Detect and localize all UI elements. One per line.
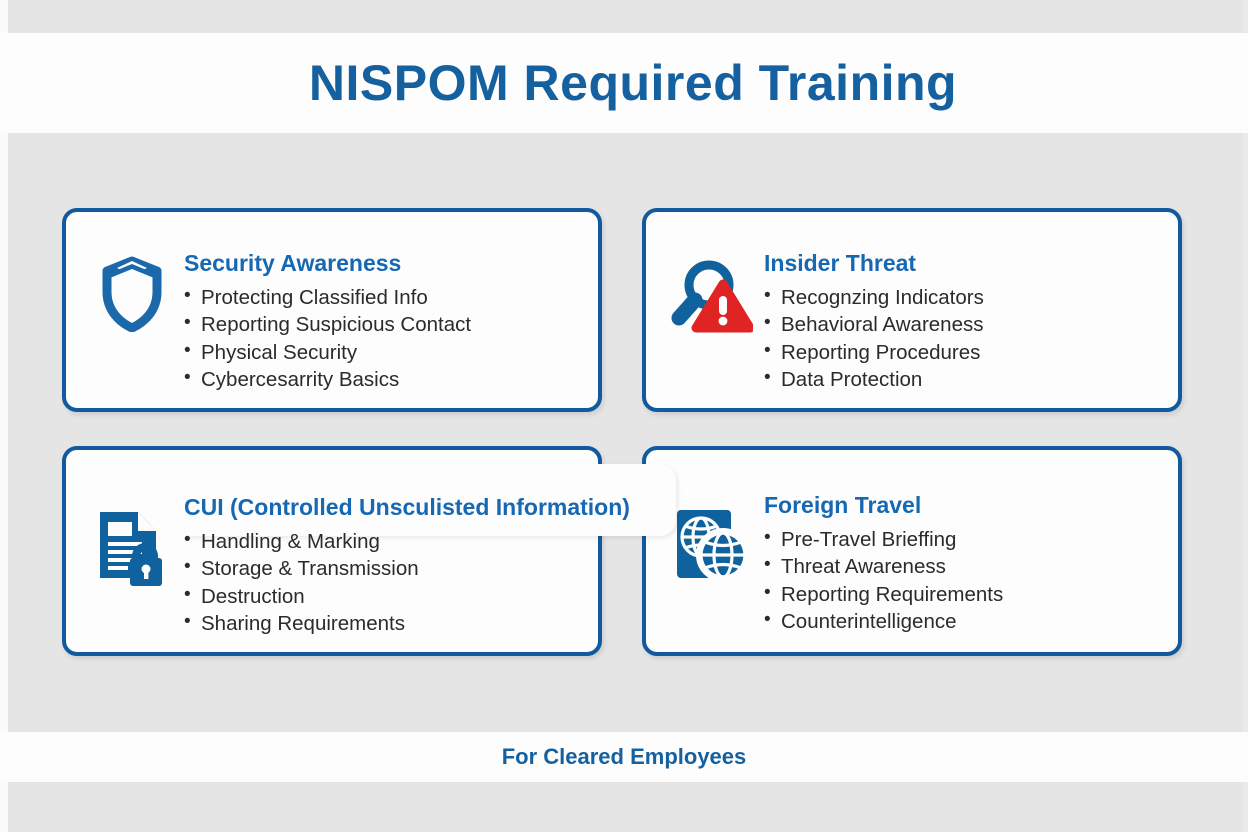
card-title: CUI (Controlled Unsculisted Information) bbox=[184, 494, 588, 520]
footer-band: For Cleared Employees bbox=[0, 732, 1248, 782]
bullet-list: Recognzing Indicators Behavioral Awarene… bbox=[764, 284, 1168, 392]
list-item: Pre-Travel Brieffing bbox=[764, 526, 1168, 553]
card-title: Insider Threat bbox=[764, 250, 1168, 276]
bullet-list: Pre-Travel Brieffing Threat Awareness Re… bbox=[764, 526, 1168, 634]
card-text: Security Awareness Protecting Classified… bbox=[184, 228, 588, 393]
footer-text: For Cleared Employees bbox=[502, 744, 747, 770]
list-item: Data Protection bbox=[764, 366, 1168, 393]
card-insider-threat[interactable]: Insider Threat Recognzing Indicators Beh… bbox=[642, 208, 1182, 412]
shield-icon bbox=[101, 256, 163, 332]
icon-container bbox=[80, 466, 184, 586]
card-foreign-travel[interactable]: Foreign Travel Pre-Travel Brieffing Thre… bbox=[642, 446, 1182, 656]
icon-container bbox=[80, 228, 184, 332]
list-item: Reporting Procedures bbox=[764, 339, 1168, 366]
card-cui[interactable]: CUI (Controlled Unsculisted Information)… bbox=[62, 446, 602, 656]
poster-canvas: NISPOM Required Training Security Awaren… bbox=[0, 0, 1248, 832]
list-item: Physical Security bbox=[184, 339, 588, 366]
list-item: Behavioral Awareness bbox=[764, 311, 1168, 338]
passport-globe-icon bbox=[671, 506, 753, 586]
card-grid: Security Awareness Protecting Classified… bbox=[62, 208, 1182, 656]
card-text: Insider Threat Recognzing Indicators Beh… bbox=[764, 228, 1168, 393]
card-text: Foreign Travel Pre-Travel Brieffing Thre… bbox=[764, 466, 1168, 635]
card-content: Insider Threat Recognzing Indicators Beh… bbox=[646, 212, 1178, 408]
list-item: Handling & Marking bbox=[184, 528, 588, 555]
card-content: Foreign Travel Pre-Travel Brieffing Thre… bbox=[646, 450, 1178, 652]
card-content: Security Awareness Protecting Classified… bbox=[66, 212, 598, 408]
header-band: NISPOM Required Training bbox=[0, 33, 1248, 133]
list-item: Cybercesarrity Basics bbox=[184, 366, 588, 393]
list-item: Counterintelligence bbox=[764, 608, 1168, 635]
icon-container bbox=[660, 228, 764, 334]
document-lock-icon bbox=[94, 508, 170, 586]
bullet-list: Protecting Classified Info Reporting Sus… bbox=[184, 284, 588, 392]
list-item: Destruction bbox=[184, 583, 588, 610]
card-security-awareness[interactable]: Security Awareness Protecting Classified… bbox=[62, 208, 602, 412]
card-title: Foreign Travel bbox=[764, 492, 1168, 518]
list-item: Sharing Requirements bbox=[184, 610, 588, 637]
list-item: Reporting Suspicious Contact bbox=[184, 311, 588, 338]
magnifier-warning-icon bbox=[671, 258, 753, 334]
card-title: Security Awareness bbox=[184, 250, 588, 276]
list-item: Reporting Requirements bbox=[764, 581, 1168, 608]
page-title: NISPOM Required Training bbox=[291, 58, 957, 108]
list-item: Threat Awareness bbox=[764, 553, 1168, 580]
list-item: Protecting Classified Info bbox=[184, 284, 588, 311]
list-item: Recognzing Indicators bbox=[764, 284, 1168, 311]
list-item: Storage & Transmission bbox=[184, 555, 588, 582]
bullet-list: Handling & Marking Storage & Transmissio… bbox=[184, 528, 588, 636]
